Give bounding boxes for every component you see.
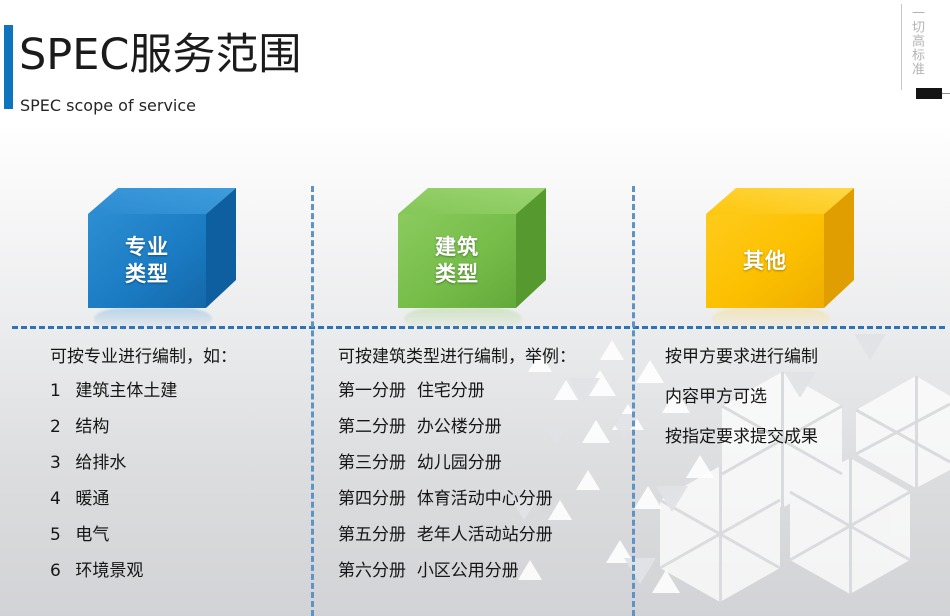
list-item-text: 老年人活动站分册 [417, 525, 553, 545]
column-other: 按甲方要求进行编制 内容甲方可选 按指定要求提交成果 [665, 346, 818, 466]
list-item-number: 4 [50, 488, 70, 510]
cube-yellow-label: 其他 [706, 214, 824, 308]
list-item-text: 按甲方要求进行编制 [665, 347, 818, 367]
cube-blue-label-line2: 类型 [125, 261, 169, 288]
list-item-text: 暖通 [75, 489, 109, 509]
list-item-text: 建筑主体土建 [75, 381, 177, 401]
cube-blue-label-line1: 专业 [125, 234, 169, 261]
list-item: 第三分册 幼儿园分册 [338, 452, 576, 474]
cube-yellow[interactable]: 其他 [706, 188, 854, 308]
list-item: 5 电气 [50, 524, 237, 546]
list-item: 按指定要求提交成果 [665, 426, 818, 448]
list-item: 第五分册 老年人活动站分册 [338, 524, 576, 546]
column-building-types: 可按建筑类型进行编制，举例： 第一分册 住宅分册 第二分册 办公楼分册 第三分册… [338, 346, 576, 596]
list-item: 第一分册 住宅分册 [338, 380, 576, 402]
column-professional-types: 可按专业进行编制，如： 1 建筑主体土建 2 结构 3 给排水 4 暖通 5 电… [50, 346, 237, 596]
list-item-text: 小区公用分册 [417, 561, 519, 581]
list-item-text: 体育活动中心分册 [417, 489, 553, 509]
cube-blue-reflection [94, 308, 212, 330]
cube-blue-label: 专业 类型 [88, 214, 206, 308]
motto-text: 一切高标准 [908, 6, 924, 76]
motto-rule [901, 4, 902, 90]
list-item-number: 1 [50, 380, 70, 402]
list-item-text: 电气 [75, 525, 109, 545]
list-item-number: 第一分册 [338, 381, 406, 401]
list-item-number: 第二分册 [338, 417, 406, 437]
cube-yellow-label-line1: 其他 [743, 248, 787, 275]
cube-yellow-reflection [712, 308, 830, 330]
cube-green-label: 建筑 类型 [398, 214, 516, 308]
vertical-divider-2 [632, 186, 635, 616]
list-item: 第六分册 小区公用分册 [338, 560, 576, 582]
list-item: 按甲方要求进行编制 [665, 346, 818, 368]
list-item-text: 幼儿园分册 [417, 453, 502, 473]
column-1-title: 可按专业进行编制，如： [50, 346, 237, 368]
list-item-number: 第五分册 [338, 525, 406, 545]
title-accent-bar [4, 25, 13, 109]
list-item-text: 办公楼分册 [417, 417, 502, 437]
page-title: SPEC服务范围 [19, 28, 301, 82]
motto-mark [916, 88, 942, 99]
list-item-number: 第三分册 [338, 453, 406, 473]
list-item-number: 6 [50, 560, 70, 582]
list-item-text: 内容甲方可选 [665, 387, 767, 407]
list-item-text: 给排水 [75, 453, 126, 473]
list-item-text: 结构 [75, 417, 109, 437]
cube-green-reflection [404, 308, 522, 330]
list-item-number: 3 [50, 452, 70, 474]
page-subtitle: SPEC scope of service [20, 96, 196, 116]
cube-green-label-line1: 建筑 [435, 234, 479, 261]
list-item-number: 5 [50, 524, 70, 546]
list-item-text: 按指定要求提交成果 [665, 427, 818, 447]
list-item: 第二分册 办公楼分册 [338, 416, 576, 438]
list-item-number: 2 [50, 416, 70, 438]
slide-canvas: SPEC服务范围 SPEC scope of service 一切高标准 [0, 0, 950, 616]
cube-green[interactable]: 建筑 类型 [398, 188, 546, 308]
list-item: 1 建筑主体土建 [50, 380, 237, 402]
list-item-text: 环境景观 [75, 561, 143, 581]
list-item: 第四分册 体育活动中心分册 [338, 488, 576, 510]
list-item-number: 第六分册 [338, 561, 406, 581]
list-item-number: 第四分册 [338, 489, 406, 509]
list-item: 2 结构 [50, 416, 237, 438]
list-item: 3 给排水 [50, 452, 237, 474]
list-item: 4 暖通 [50, 488, 237, 510]
cube-blue[interactable]: 专业 类型 [88, 188, 236, 308]
column-2-title: 可按建筑类型进行编制，举例： [338, 346, 576, 368]
cube-green-label-line2: 类型 [435, 261, 479, 288]
motto-mark-tail [942, 93, 950, 94]
list-item-text: 住宅分册 [417, 381, 485, 401]
list-item: 6 环境景观 [50, 560, 237, 582]
list-item: 内容甲方可选 [665, 386, 818, 408]
vertical-divider-1 [311, 186, 314, 616]
